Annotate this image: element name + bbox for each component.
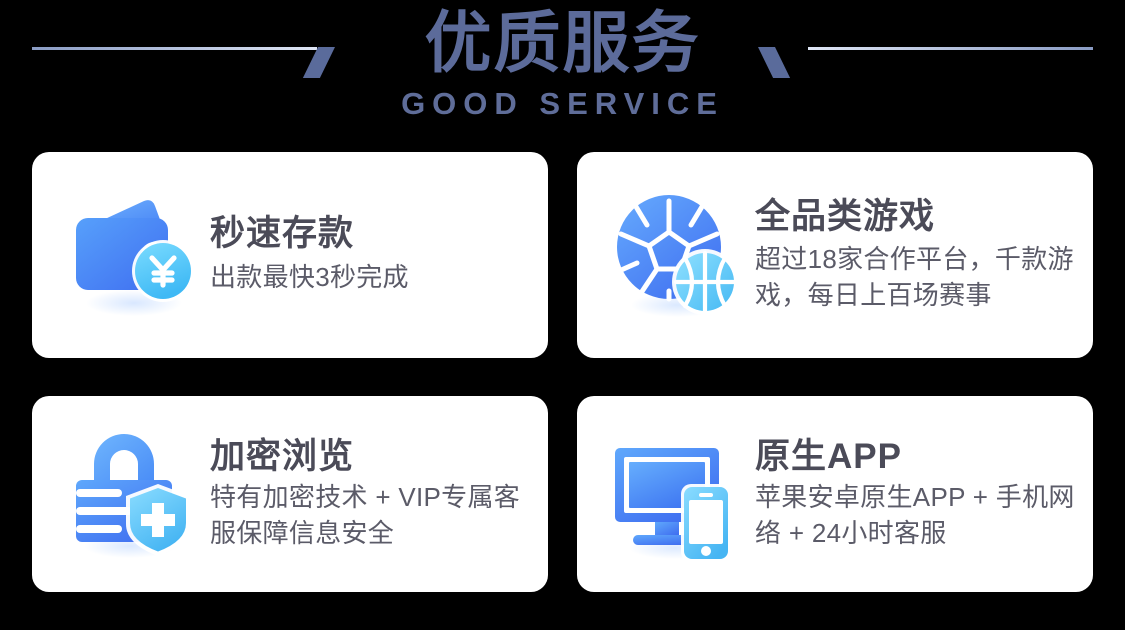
feature-card-desc: 苹果安卓原生APP + 手机网络 + 24小时客服 xyxy=(755,480,1079,552)
feature-card-title: 秒速存款 xyxy=(210,214,534,253)
feature-card-encryption[interactable]: 加密浏览 特有加密技术 + VIP专属客服保障信息安全 xyxy=(32,396,548,592)
page-header: 优质服务 GOOD SERVICE xyxy=(0,0,1125,150)
feature-card-grid: 秒速存款 出款最快3秒完成 xyxy=(32,152,1093,592)
wallet-icon xyxy=(62,185,202,325)
feature-card-text: 全品类游戏 超过18家合作平台，千款游戏，每日上百场赛事 xyxy=(747,197,1093,314)
feature-card-title: 原生APP xyxy=(755,437,1079,476)
feature-card-desc: 特有加密技术 + VIP专属客服保障信息安全 xyxy=(210,480,534,552)
feature-card-deposit[interactable]: 秒速存款 出款最快3秒完成 xyxy=(32,152,548,358)
soccer-basketball-icon xyxy=(607,185,747,325)
feature-card-text: 秒速存款 出款最快3秒完成 xyxy=(202,214,548,295)
lock-shield-icon xyxy=(62,424,202,564)
feature-card-text: 原生APP 苹果安卓原生APP + 手机网络 + 24小时客服 xyxy=(747,437,1093,552)
page-title: 优质服务 GOOD SERVICE xyxy=(0,0,1125,122)
monitor-phone-icon xyxy=(607,424,747,564)
feature-card-native-app[interactable]: 原生APP 苹果安卓原生APP + 手机网络 + 24小时客服 xyxy=(577,396,1093,592)
feature-card-desc: 出款最快3秒完成 xyxy=(210,260,534,296)
page-title-cn: 优质服务 xyxy=(0,0,1125,79)
page-title-en: GOOD SERVICE xyxy=(0,79,1125,122)
feature-card-text: 加密浏览 特有加密技术 + VIP专属客服保障信息安全 xyxy=(202,437,548,552)
feature-card-games[interactable]: 全品类游戏 超过18家合作平台，千款游戏，每日上百场赛事 xyxy=(577,152,1093,358)
feature-card-title: 全品类游戏 xyxy=(755,197,1079,236)
feature-card-desc: 超过18家合作平台，千款游戏，每日上百场赛事 xyxy=(755,242,1079,314)
feature-card-title: 加密浏览 xyxy=(210,437,534,476)
